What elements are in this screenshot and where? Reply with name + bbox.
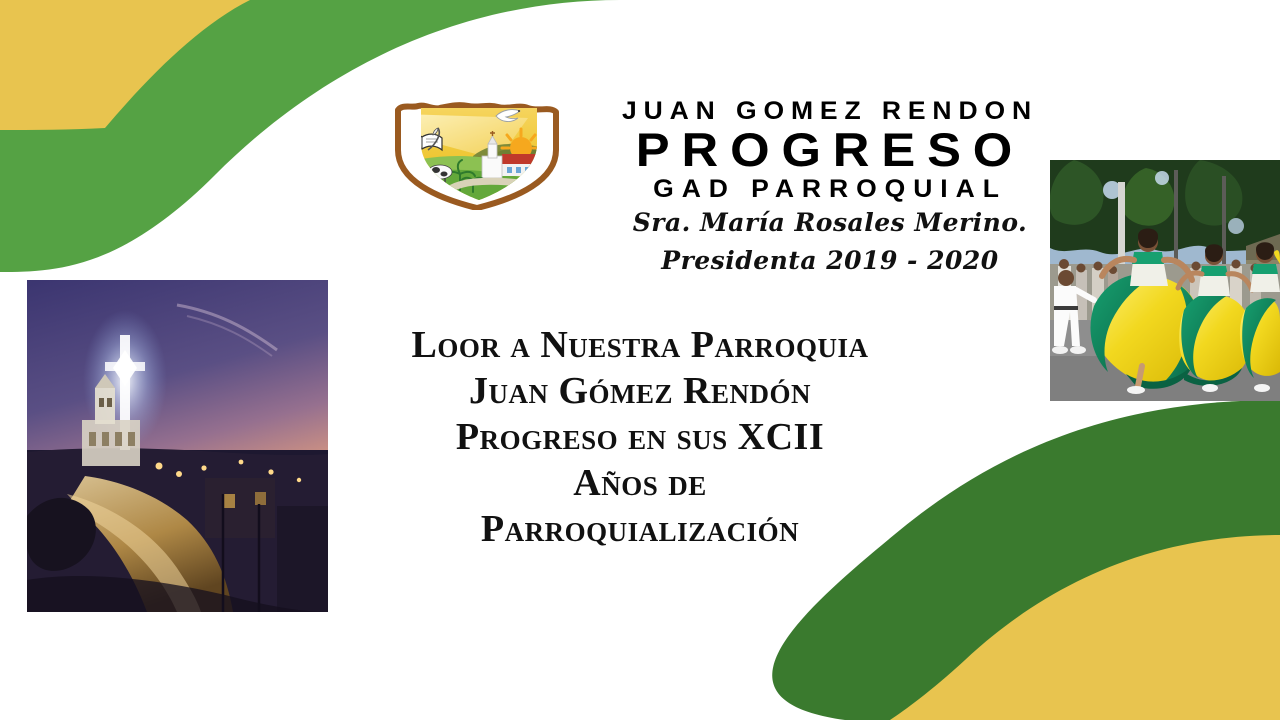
brand-line-gad-parroquial: GAD PARROQUIAL [586,174,1074,205]
ribbon-top-left-yellow [0,0,250,130]
president-term: Presidenta 2019 - 2020 [560,242,1100,280]
headline-line-5: Parroquialización [300,506,980,552]
headline-line-4: Años de [300,460,980,506]
headline-line-1: Loor a Nuestra Parroquia [300,322,980,368]
headline-line-2: Juan Gómez Rendón [300,368,980,414]
photo-town-night [27,280,328,612]
photo-folk-dancers [1050,160,1280,401]
brand-line-progreso: PROGRESO [582,126,1079,174]
brand-lockup: JUAN GOMEZ RENDON PROGRESO GAD PARROQUIA… [600,96,1060,205]
headline-block: Loor a Nuestra Parroquia Juan Gómez Rend… [300,322,980,552]
brand-line-juan-gomez-rendon: JUAN GOMEZ RENDON [586,96,1074,126]
president-name: Sra. María Rosales Merino. [560,204,1100,242]
ribbon-bottom-right-yellow [890,535,1280,720]
presentation-slide: JUAN GOMEZ RENDON PROGRESO GAD PARROQUIA… [0,0,1280,720]
headline-line-3: Progreso en sus XCII [300,414,980,460]
parish-crest-icon [378,98,578,210]
president-credit: Sra. María Rosales Merino. Presidenta 20… [560,204,1100,280]
